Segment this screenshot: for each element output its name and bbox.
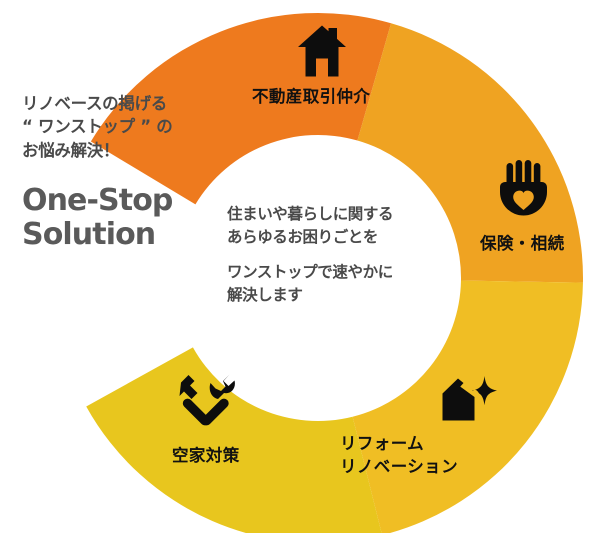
lead-line-1: リノベースの掲げる: [22, 92, 222, 115]
center-paragraph-gap: [227, 250, 442, 261]
lead-line-2: “ ワンストップ ” の: [22, 115, 222, 138]
house-icon: [294, 24, 350, 80]
hand-heart-icon: [500, 160, 550, 218]
hammer-wrench-icon: [178, 372, 238, 428]
lead-line-3: お悩み解決！: [22, 139, 222, 162]
page-title-line-2: Solution: [22, 218, 222, 252]
house-sparkle-icon: [440, 374, 498, 426]
center-paragraph-two-line-2: 解決します: [227, 284, 442, 307]
segment-label-reform-line-1: リフォーム: [340, 432, 458, 455]
page-title: One-Stop Solution: [22, 184, 222, 251]
segment-label-vacant: 空家対策: [172, 444, 240, 467]
center-paragraph-two-line-1: ワンストップで速やかに: [227, 261, 442, 284]
page-title-line-1: One-Stop: [22, 184, 222, 218]
segment-label-insurance: 保険・相続: [480, 232, 565, 255]
center-paragraph-one-line-1: 住まいや暮らしに関する: [227, 203, 442, 226]
left-headline-block: リノベースの掲げる “ ワンストップ ” の お悩み解決！ One-Stop S…: [22, 92, 222, 251]
center-text-block: 住まいや暮らしに関する あらゆるお困りごとを ワンストップで速やかに 解決します: [227, 203, 442, 307]
center-paragraph-one-line-2: あらゆるお困りごとを: [227, 226, 442, 249]
infographic-page: リノベースの掲げる “ ワンストップ ” の お悩み解決！ One-Stop S…: [0, 0, 600, 533]
segment-label-reform-line-2: リノベーション: [340, 455, 458, 478]
segment-label-realestate: 不動産取引仲介: [252, 85, 370, 108]
segment-label-reform: リフォーム リノベーション: [340, 432, 458, 479]
